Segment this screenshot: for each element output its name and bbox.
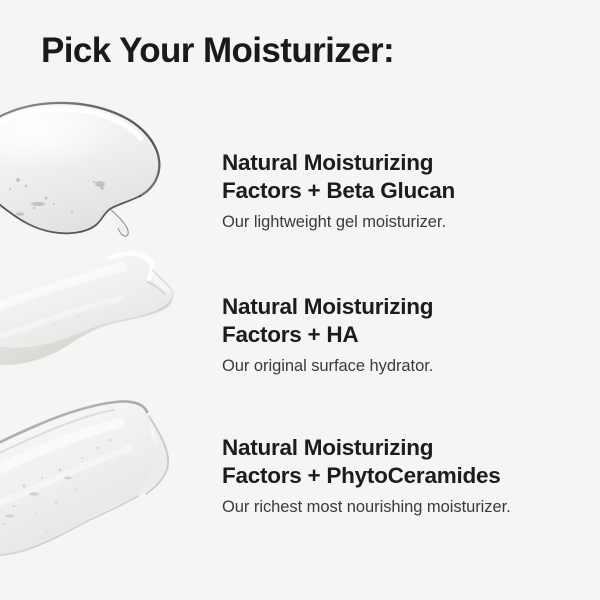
product-name: Natural Moisturizing Factors + HA: [222, 293, 582, 348]
product-name-line-2: Factors + PhytoCeramides: [222, 463, 500, 488]
product-description: Our richest most nourishing moisturizer.: [222, 497, 582, 518]
page-title: Pick Your Moisturizer:: [41, 31, 394, 71]
white-cream-swatch: [0, 238, 210, 388]
product-description: Our lightweight gel moisturizer.: [222, 212, 582, 233]
product-name-line-1: Natural Moisturizing: [222, 294, 433, 319]
product-name-line-1: Natural Moisturizing: [222, 150, 433, 175]
product-row: Natural Moisturizing Factors + PhytoCera…: [0, 382, 600, 557]
clear-gel-swatch: [0, 92, 210, 242]
product-name: Natural Moisturizing Factors + Beta Gluc…: [222, 149, 582, 204]
product-description: Our original surface hydrator.: [222, 356, 582, 377]
rich-cream-swatch: [0, 382, 210, 557]
product-text-block: Natural Moisturizing Factors + Beta Gluc…: [222, 149, 582, 234]
product-row: Natural Moisturizing Factors + HA Our or…: [0, 238, 600, 388]
product-name-line-2: Factors + Beta Glucan: [222, 178, 455, 203]
product-name-line-1: Natural Moisturizing: [222, 435, 433, 460]
moisturizer-comparison-poster: Pick Your Moisturizer:: [0, 0, 600, 600]
product-name: Natural Moisturizing Factors + PhytoCera…: [222, 434, 582, 489]
product-text-block: Natural Moisturizing Factors + HA Our or…: [222, 293, 582, 378]
product-text-block: Natural Moisturizing Factors + PhytoCera…: [222, 434, 582, 519]
product-name-line-2: Factors + HA: [222, 322, 358, 347]
product-row: Natural Moisturizing Factors + Beta Gluc…: [0, 92, 600, 242]
